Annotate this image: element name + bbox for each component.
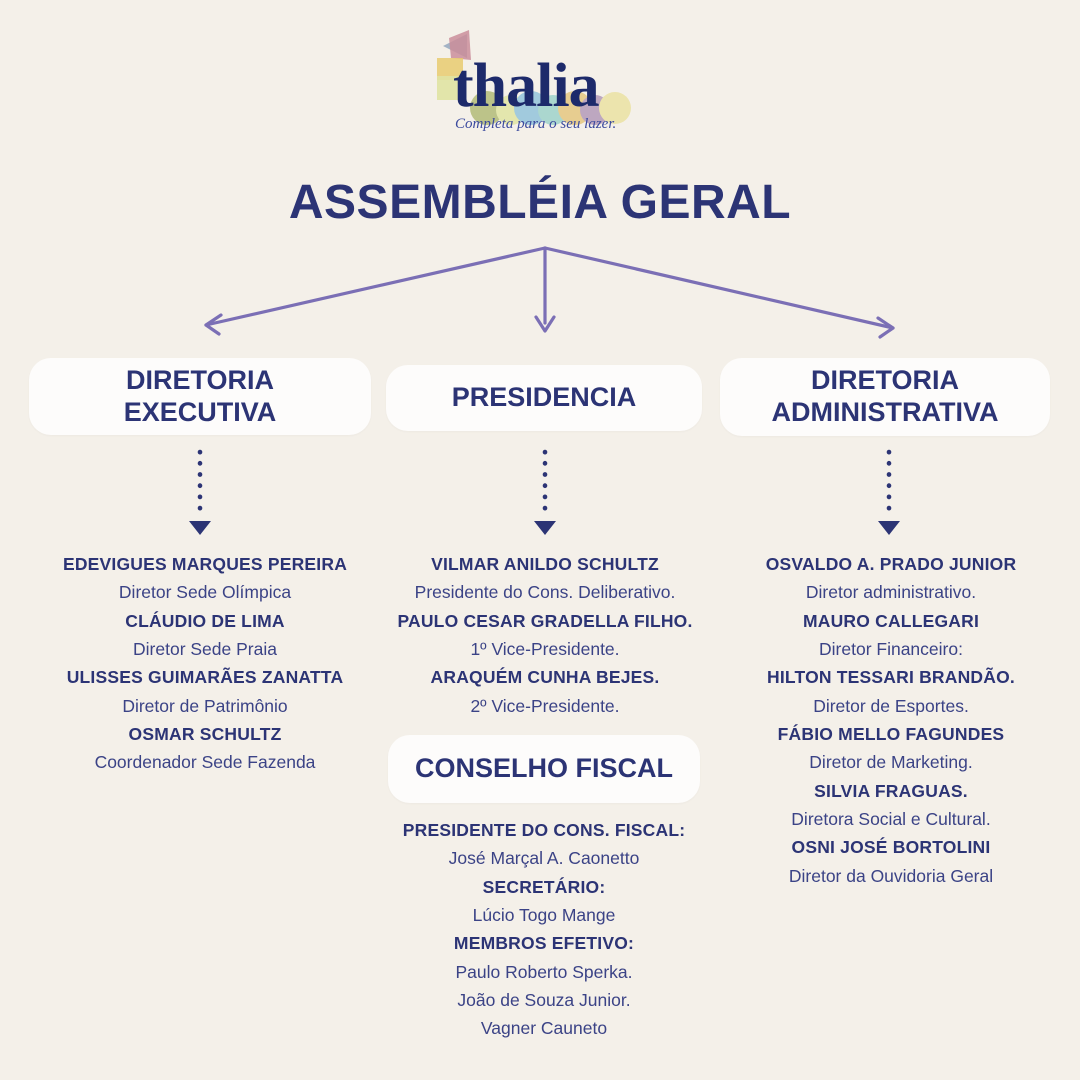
- member-list-executiva: EDEVIGUES MARQUES PEREIRADiretor Sede Ol…: [20, 550, 390, 777]
- member-role: Diretor Sede Praia: [20, 635, 390, 663]
- arrowhead-executiva: [206, 315, 221, 334]
- member-name: CLÁUDIO DE LIMA: [20, 607, 390, 635]
- member-name: MAURO CALLEGARI: [712, 607, 1070, 635]
- member-role: Diretora Social e Cultural.: [712, 805, 1070, 833]
- member-role: Diretor administrativo.: [712, 578, 1070, 606]
- member-name: OSMAR SCHULTZ: [20, 720, 390, 748]
- thalia-logo-icon: thalia Completa para o seu lazer.: [425, 24, 655, 134]
- member-role: 1º Vice-Presidente.: [386, 635, 704, 663]
- line-assembleia-administrativa: [545, 248, 893, 328]
- member-name: ARAQUÉM CUNHA BEJES.: [386, 663, 704, 691]
- dotted-arrowhead-administrativa: [878, 521, 900, 535]
- member-name: OSVALDO A. PRADO JUNIOR: [712, 550, 1070, 578]
- node-label-line1: PRESIDENCIA: [452, 382, 637, 414]
- brand-tagline: Completa para o seu lazer.: [455, 116, 616, 132]
- member-name: ULISSES GUIMARÃES ZANATTA: [20, 663, 390, 691]
- member-role: Diretor Financeiro:: [712, 635, 1070, 663]
- node-label-line1: CONSELHO FISCAL: [415, 753, 673, 785]
- node-conselho-fiscal[interactable]: CONSELHO FISCAL: [388, 735, 700, 803]
- member-name: HILTON TESSARI BRANDÃO.: [712, 663, 1070, 691]
- member-role: Paulo Roberto Sperka.: [388, 958, 700, 986]
- node-label-line2: EXECUTIVA: [124, 397, 277, 427]
- member-name: FÁBIO MELLO FAGUNDES: [712, 720, 1070, 748]
- member-role: Coordenador Sede Fazenda: [20, 748, 390, 776]
- member-name: EDEVIGUES MARQUES PEREIRA: [20, 550, 390, 578]
- brand-logo: thalia Completa para o seu lazer.: [0, 24, 1080, 139]
- arrowhead-presidencia: [536, 317, 554, 331]
- node-presidencia[interactable]: PRESIDENCIA: [386, 365, 702, 431]
- member-role: Lúcio Togo Mange: [388, 901, 700, 929]
- member-name: SILVIA FRAGUAS.: [712, 777, 1070, 805]
- member-name: OSNI JOSÉ BORTOLINI: [712, 833, 1070, 861]
- member-name: SECRETÁRIO:: [388, 873, 700, 901]
- line-assembleia-executiva: [206, 248, 545, 325]
- node-diretoria-executiva[interactable]: DIRETORIA EXECUTIVA: [29, 358, 371, 435]
- member-role: José Marçal A. Caonetto: [388, 844, 700, 872]
- member-role: Diretor Sede Olímpica: [20, 578, 390, 606]
- page-title: ASSEMBLÉIA GERAL: [0, 175, 1080, 230]
- member-name: PAULO CESAR GRADELLA FILHO.: [386, 607, 704, 635]
- member-name: PRESIDENTE DO CONS. FISCAL:: [388, 816, 700, 844]
- arrowhead-administrativa: [878, 318, 893, 337]
- member-role: João de Souza Junior.: [388, 986, 700, 1014]
- node-label-line2: ADMINISTRATIVA: [772, 397, 999, 427]
- svg-text:thalia: thalia: [453, 52, 600, 120]
- member-name: VILMAR ANILDO SCHULTZ: [386, 550, 704, 578]
- member-role: Diretor da Ouvidoria Geral: [712, 862, 1070, 890]
- member-role: Diretor de Marketing.: [712, 748, 1070, 776]
- member-role: Presidente do Cons. Deliberativo.: [386, 578, 704, 606]
- member-name: MEMBROS EFETIVO:: [388, 929, 700, 957]
- member-role: Vagner Cauneto: [388, 1014, 700, 1042]
- org-chart-page: thalia Completa para o seu lazer. ASSEMB…: [0, 0, 1080, 1080]
- member-role: 2º Vice-Presidente.: [386, 692, 704, 720]
- member-role: Diretor de Esportes.: [712, 692, 1070, 720]
- node-diretoria-administrativa[interactable]: DIRETORIA ADMINISTRATIVA: [720, 358, 1050, 436]
- member-list-administrativa: OSVALDO A. PRADO JUNIORDiretor administr…: [712, 550, 1070, 890]
- member-list-conselho: PRESIDENTE DO CONS. FISCAL:José Marçal A…: [388, 816, 700, 1043]
- node-label-line1: DIRETORIA: [126, 365, 274, 395]
- dotted-arrowhead-executiva: [189, 521, 211, 535]
- dotted-arrowhead-presidencia: [534, 521, 556, 535]
- member-role: Diretor de Patrimônio: [20, 692, 390, 720]
- node-label-line1: DIRETORIA: [811, 365, 959, 395]
- member-list-presidencia: VILMAR ANILDO SCHULTZPresidente do Cons.…: [386, 550, 704, 720]
